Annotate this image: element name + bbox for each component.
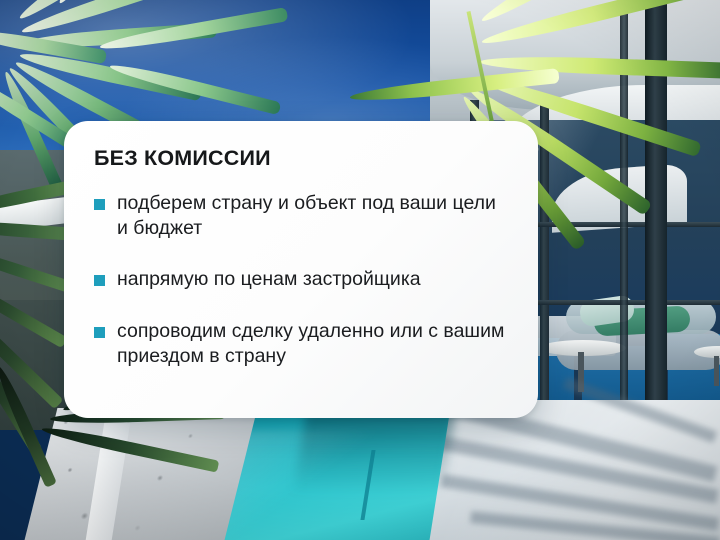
benefit-text: напрямую по ценам застройщика [117,267,421,292]
list-item: сопроводим сделку удаленно или с вашим п… [94,319,508,370]
bullet-square-icon [94,199,105,210]
benefit-text: сопроводим сделку удаленно или с вашим п… [117,319,508,370]
card-title: БЕЗ КОМИССИИ [94,147,508,171]
bullet-square-icon [94,327,105,338]
list-item: напрямую по ценам застройщика [94,267,508,292]
list-item: подберем страну и объект под ваши цели и… [94,191,508,242]
benefits-list: подберем страну и объект под ваши цели и… [94,191,508,370]
banner-image: avito БЕЗ КОМИССИИ подберем страну и объ… [0,0,720,540]
info-card: БЕЗ КОМИССИИ подберем страну и объект по… [64,121,538,418]
benefit-text: подберем страну и объект под ваши цели и… [117,191,508,242]
bullet-square-icon [94,275,105,286]
